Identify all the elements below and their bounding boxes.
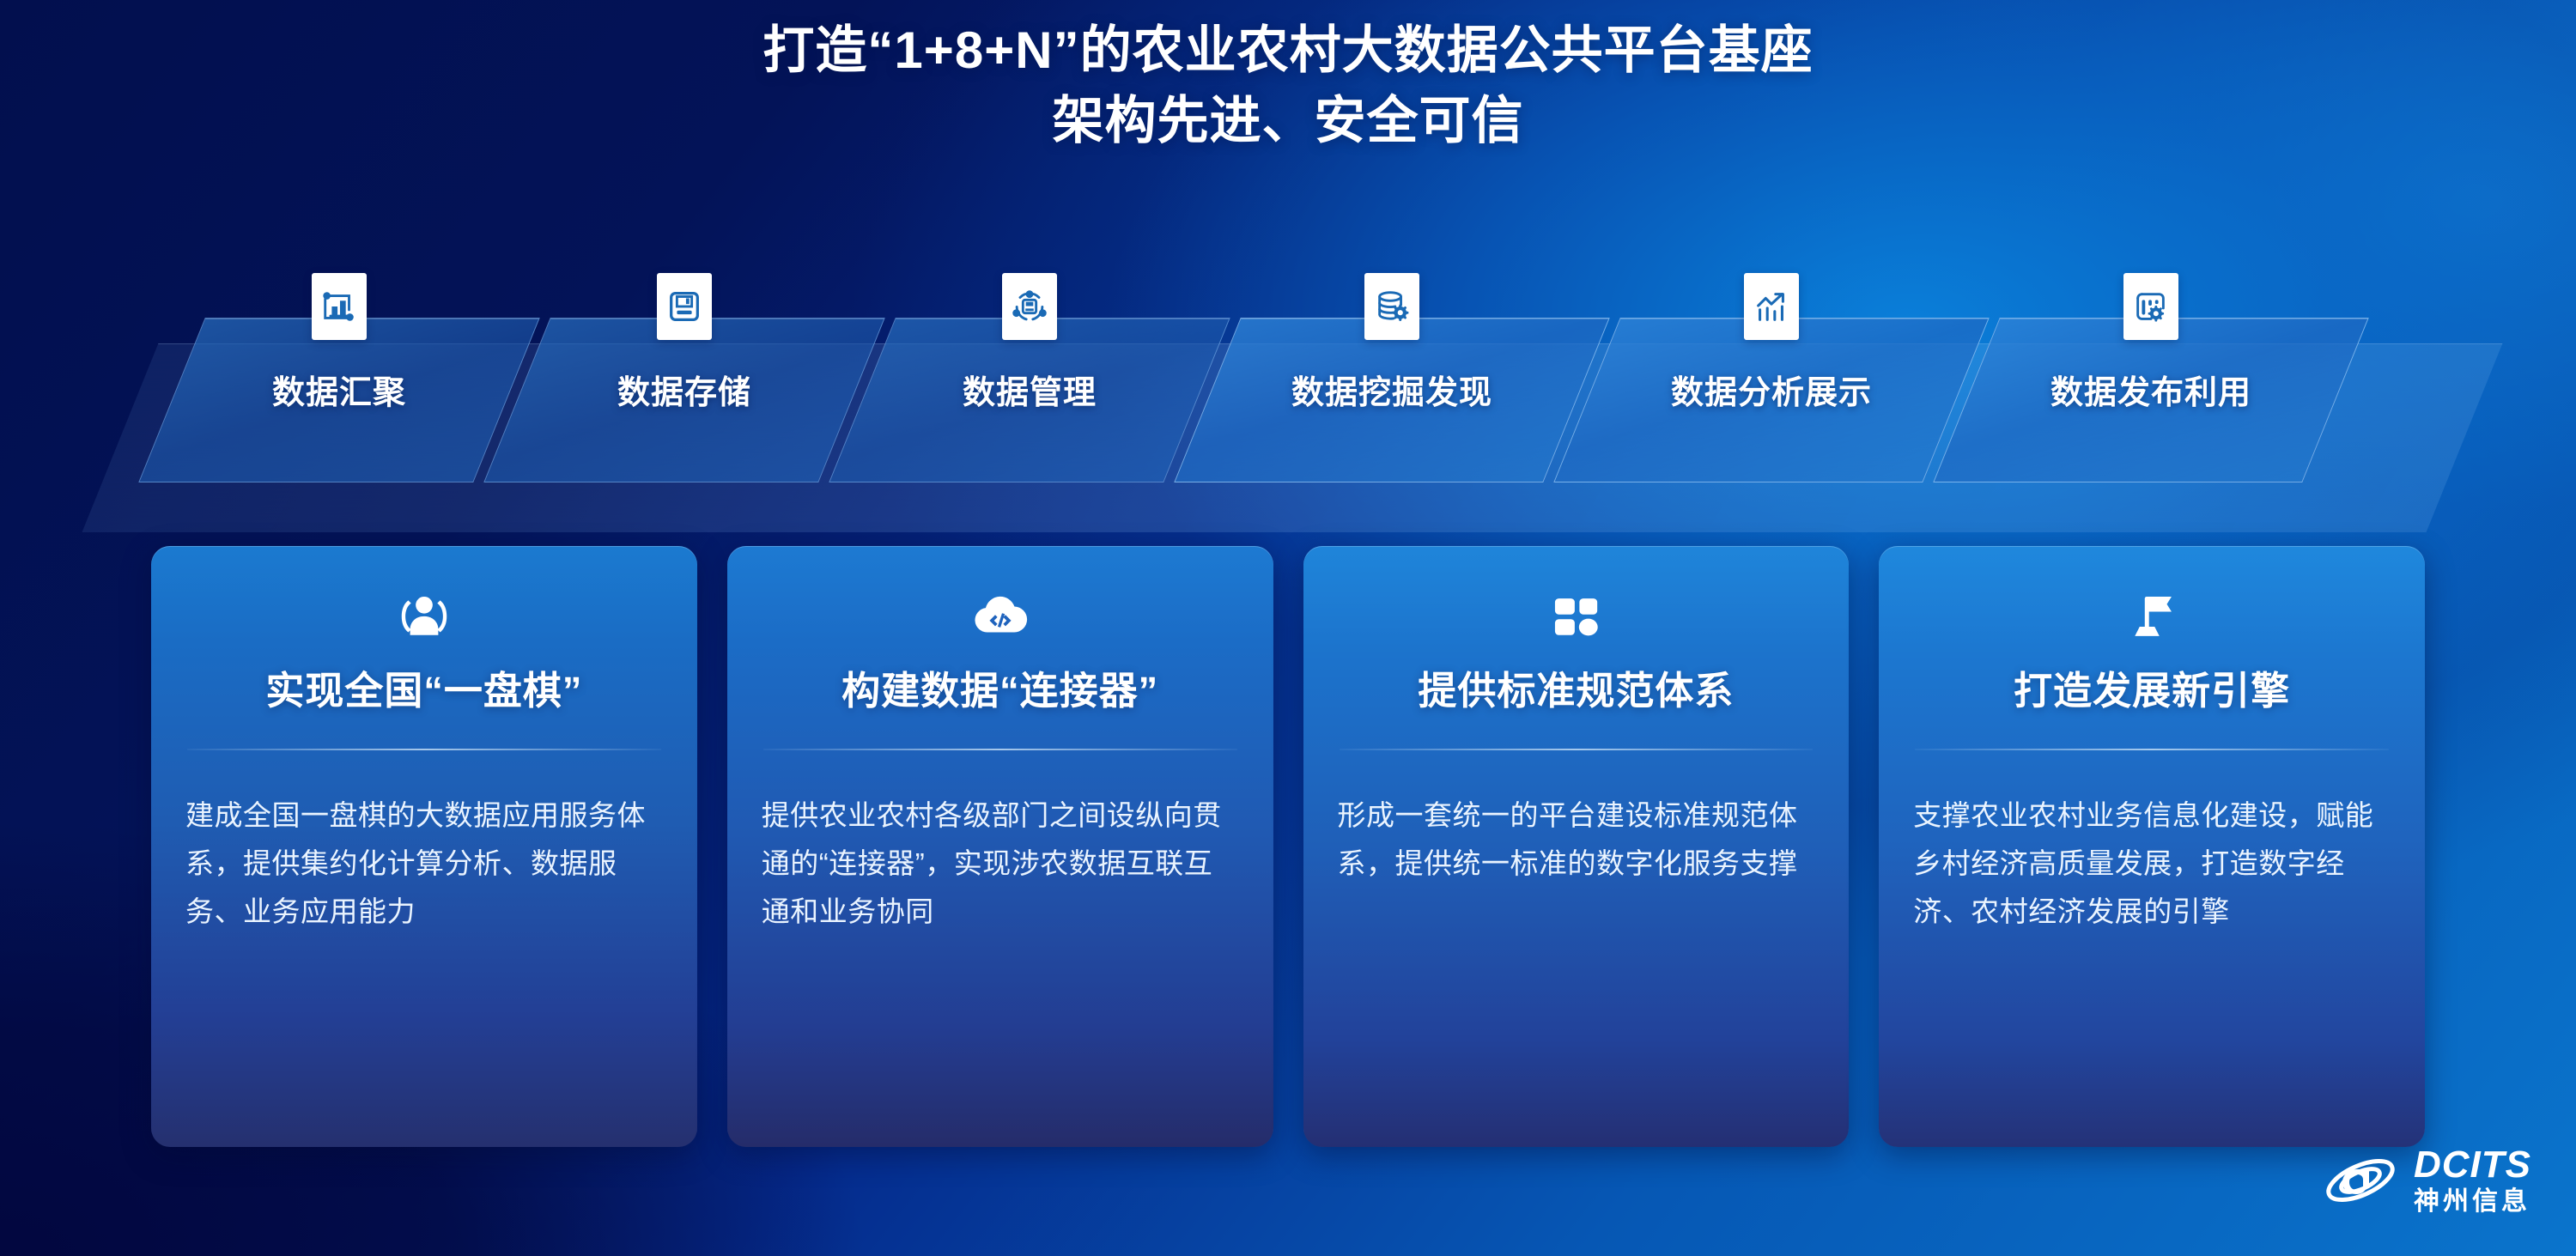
ribbon-tile-label: 数据发布利用 (1966, 366, 2336, 413)
ribbon-tile-data-management[interactable]: 数据管理 (862, 318, 1197, 482)
capability-ribbon: 数据汇聚 数据存储 (0, 318, 2576, 532)
benefit-card-3[interactable]: 提供标准规范体系 形成一套统一的平台建设标准规范体系，提供统一标准的数字化服务支… (1303, 546, 1850, 1147)
ribbon-tile-label: 数据管理 (862, 366, 1197, 413)
benefit-cards: 实现全国“一盘棋” 建成全国一盘棋的大数据应用服务体系，提供集约化计算分析、数据… (151, 546, 2425, 1147)
benefit-card-title: 实现全国“一盘棋” (185, 666, 663, 716)
benefit-card-title: 提供标准规范体系 (1338, 666, 1815, 716)
ribbon-tile-label: 数据挖掘发现 (1207, 366, 1577, 413)
benefit-card-desc: 形成一套统一的平台建设标准规范体系，提供统一标准的数字化服务支撑 (1338, 792, 1815, 888)
ribbon-tile-data-mining[interactable]: 数据挖掘发现 (1207, 318, 1577, 482)
card-divider (1915, 749, 2389, 750)
ribbon-tile-label: 数据存储 (517, 366, 852, 413)
logo-text: DCITS 神州信息 (2414, 1146, 2531, 1215)
logo-name-cn: 神州信息 (2414, 1189, 2531, 1215)
trend-chart-icon (1744, 273, 1799, 340)
title-line-2: 架构先进、安全可信 (0, 86, 2576, 156)
brand-logo: DCITS 神州信息 (2323, 1146, 2531, 1215)
panel-gear-icon (2123, 273, 2178, 340)
logo-name-en: DCITS (2414, 1146, 2531, 1184)
database-gear-icon (1364, 273, 1419, 340)
floppy-disk-icon (657, 273, 712, 340)
ribbon-tile-label: 数据分析展示 (1587, 366, 1956, 413)
data-nodes-icon (1002, 273, 1057, 340)
card-divider (187, 749, 661, 750)
page-title: 打造“1+8+N”的农业农村大数据公共平台基座 架构先进、安全可信 (0, 15, 2576, 156)
dcits-orbit-icon (2323, 1147, 2398, 1214)
card-divider (1340, 749, 1814, 750)
title-line-1: 打造“1+8+N”的农业农村大数据公共平台基座 (0, 15, 2576, 86)
ribbon-tile-data-storage[interactable]: 数据存储 (517, 318, 852, 482)
benefit-card-title: 构建数据“连接器” (762, 666, 1239, 716)
slide-canvas: 打造“1+8+N”的农业农村大数据公共平台基座 架构先进、安全可信 (0, 0, 2576, 1256)
flag-icon (1913, 582, 2391, 652)
bar-chart-flow-icon (312, 273, 367, 340)
benefit-card-4[interactable]: 打造发展新引擎 支撑农业农村业务信息化建设，赋能乡村经济高质量发展，打造数字经济… (1879, 546, 2425, 1147)
ribbon-tile-data-analysis[interactable]: 数据分析展示 (1587, 318, 1956, 482)
people-group-icon (185, 582, 663, 652)
benefit-card-2[interactable]: 构建数据“连接器” 提供农业农村各级部门之间设纵向贯通的“连接器”，实现涉农数据… (727, 546, 1273, 1147)
cloud-code-icon (762, 582, 1239, 652)
benefit-card-desc: 提供农业农村各级部门之间设纵向贯通的“连接器”，实现涉农数据互联互通和业务协同 (762, 792, 1239, 936)
card-divider (763, 749, 1237, 750)
benefit-card-desc: 支撑农业农村业务信息化建设，赋能乡村经济高质量发展，打造数字经济、农村经济发展的… (1913, 792, 2391, 936)
benefit-card-1[interactable]: 实现全国“一盘棋” 建成全国一盘棋的大数据应用服务体系，提供集约化计算分析、数据… (151, 546, 697, 1147)
grid-blocks-icon (1338, 582, 1815, 652)
ribbon-tile-data-aggregation[interactable]: 数据汇聚 (172, 318, 507, 482)
ribbon-tile-data-publishing[interactable]: 数据发布利用 (1966, 318, 2336, 482)
ribbon-tiles: 数据汇聚 数据存储 (0, 318, 2576, 532)
benefit-card-desc: 建成全国一盘棋的大数据应用服务体系，提供集约化计算分析、数据服务、业务应用能力 (185, 792, 663, 936)
ribbon-tile-label: 数据汇聚 (172, 366, 507, 413)
benefit-card-title: 打造发展新引擎 (1913, 666, 2391, 716)
